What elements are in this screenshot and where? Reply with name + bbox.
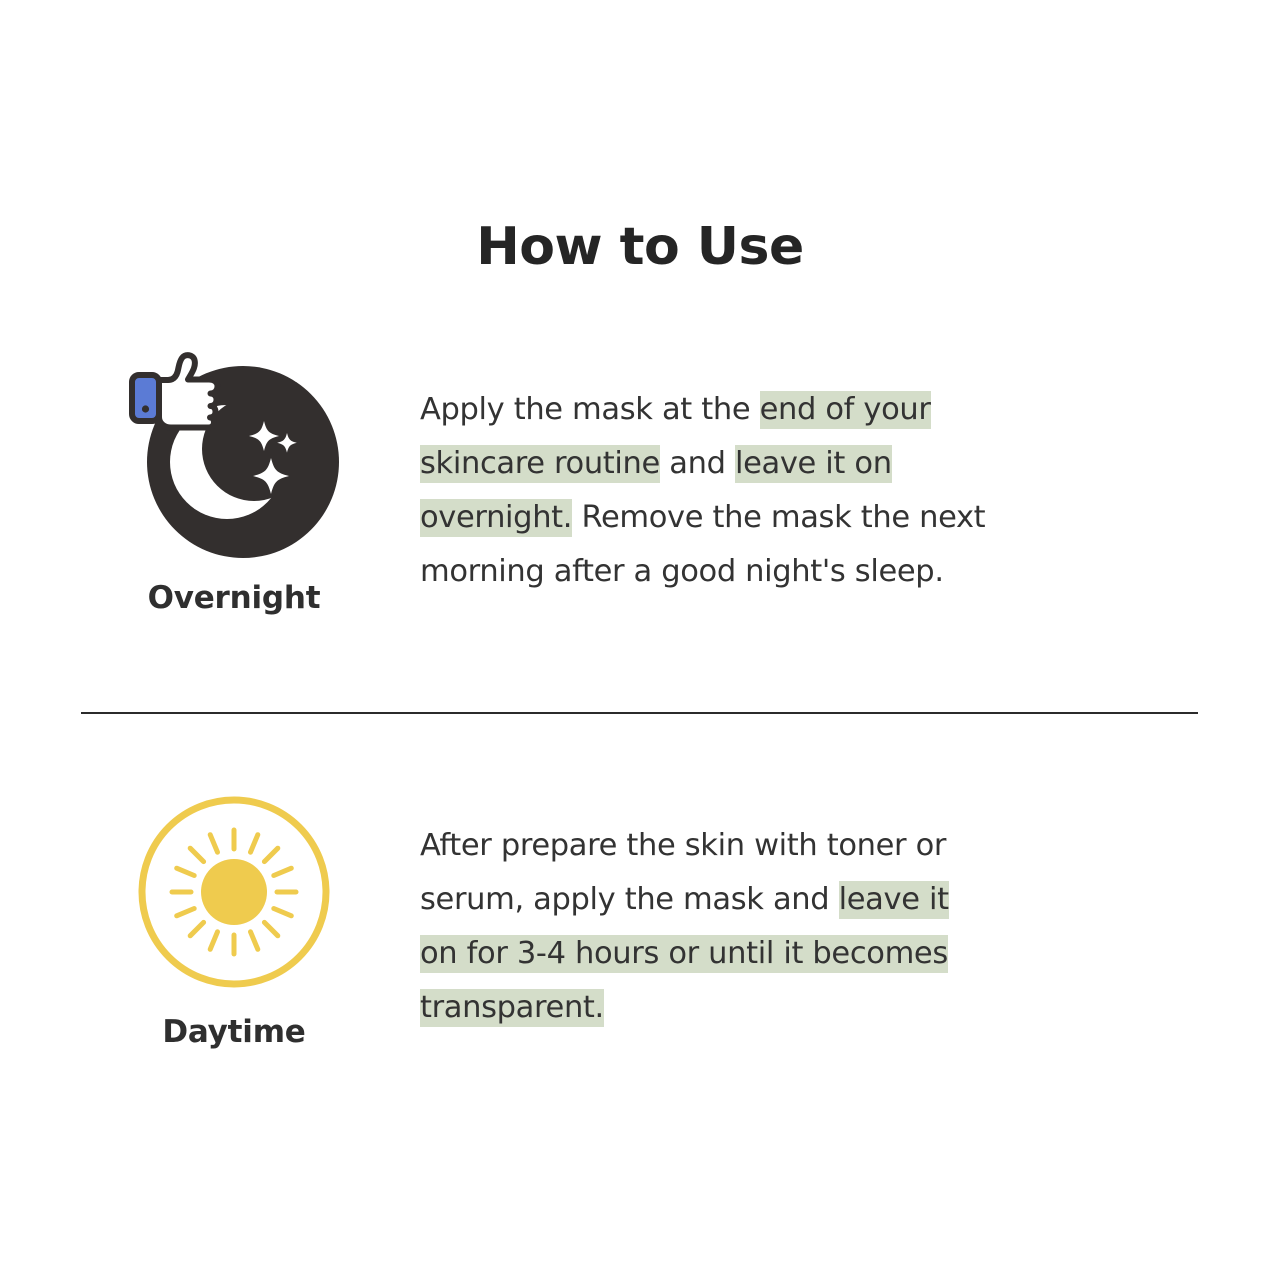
page-title: How to Use (0, 218, 1280, 278)
section-daytime: Daytime After prepare the skin with tone… (0, 788, 1280, 1066)
overnight-icon (129, 352, 339, 562)
daytime-paragraph: After prepare the skin with toner or ser… (420, 819, 955, 1036)
overnight-icon-column: Overnight (0, 352, 420, 616)
thumbs-up-icon (129, 352, 225, 438)
overnight-text-column: Apply the mask at the end of your skinca… (420, 352, 1280, 630)
how-to-use-page: How to Use (0, 0, 1280, 1280)
section-overnight: Overnight Apply the mask at the end of y… (0, 352, 1280, 630)
sun-in-circle-icon (134, 792, 334, 992)
overnight-paragraph: Apply the mask at the end of your skinca… (420, 383, 1035, 600)
text-run: and (660, 446, 735, 481)
section-divider (81, 712, 1198, 714)
text-run: Apply the mask at the (420, 392, 760, 427)
daytime-icon (129, 788, 339, 998)
daytime-icon-column: Daytime (0, 788, 420, 1050)
daytime-text-column: After prepare the skin with toner or ser… (420, 788, 1280, 1066)
daytime-label: Daytime (162, 1014, 305, 1050)
overnight-label: Overnight (148, 580, 321, 616)
